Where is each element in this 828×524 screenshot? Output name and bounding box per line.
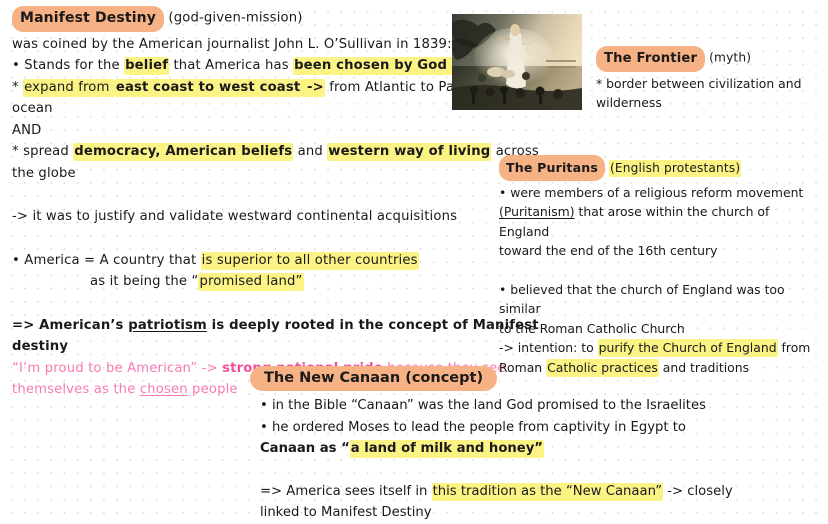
manifest-destiny-line-7: the globe xyxy=(12,163,462,185)
md-concl-pre: => American’s xyxy=(12,318,128,333)
md-l2-highlight-belief: belief xyxy=(124,57,169,75)
manifest-destiny-line-4: ocean xyxy=(12,98,462,120)
md-l6-highlight-democracy: democracy, American beliefs xyxy=(73,143,293,161)
puritans-heading-paren: (English protestants) xyxy=(609,160,741,177)
md-l10-pre: as it being the “ xyxy=(90,274,198,289)
md-l2-mid: that America has xyxy=(169,58,293,73)
md-l3-highlight-b: east coast to west coast xyxy=(115,79,301,97)
puritans-section: The Puritans (English protestants) • wer… xyxy=(499,155,819,377)
manifest-destiny-line-6: * spread democracy, American beliefs and… xyxy=(12,141,462,163)
frontier-heading-row: The Frontier (myth) xyxy=(596,46,828,72)
canaan-l4-highlight-tradition: this tradition as the “New Canaan” xyxy=(432,483,663,501)
md-l9-pre: • America = A country that xyxy=(12,253,201,268)
md-l3-star: * xyxy=(12,80,19,95)
md-l6-star: * xyxy=(12,144,19,159)
md-pink2-pre: themselves as the xyxy=(12,382,140,397)
manifest-destiny-line-3: * expand from east coast to west coast -… xyxy=(12,77,462,99)
puritans-line-6: -> intention: to purify the Church of En… xyxy=(499,338,819,358)
puritans-l6-tail: from xyxy=(778,340,811,355)
puritans-heading-row: The Puritans (English protestants) xyxy=(499,155,819,181)
md-l9-highlight-superior: is superior to all other countries xyxy=(201,252,419,270)
canaan-l4-pre: => America sees itself in xyxy=(260,484,432,499)
new-canaan-line-3: Canaan as “a land of milk and honey” xyxy=(250,438,810,460)
md-l10-highlight-promised-land: promised land” xyxy=(198,273,303,291)
md-pink2-tail: people xyxy=(188,382,238,397)
canaan-l4-tail: -> closely xyxy=(663,484,733,499)
notes-canvas: Manifest Destiny (god-given-mission) was… xyxy=(0,0,828,518)
md-concl-patriotism: patriotism xyxy=(128,318,207,333)
manifest-destiny-conclusion-line-1: => American’s patriotism is deeply roote… xyxy=(12,315,462,337)
new-canaan-section: The New Canaan (concept) • in the Bible … xyxy=(250,366,810,524)
md-l6-mid: and xyxy=(293,144,327,159)
manifest-destiny-heading-paren: (god-given-mission) xyxy=(168,11,302,26)
new-canaan-line-5: linked to Manifest Destiny xyxy=(250,502,810,524)
puritans-line-2: (Puritanism) that arose within the churc… xyxy=(499,202,819,241)
canaan-l3-pre: Canaan as “ xyxy=(260,441,350,456)
frontier-line-1: * border between civilization and xyxy=(596,74,828,94)
new-canaan-heading-row: The New Canaan (concept) xyxy=(250,366,810,391)
puritans-line-3: toward the end of the 16th century xyxy=(499,241,819,261)
puritans-l2-puritanism: (Puritanism) xyxy=(499,204,575,219)
md-l3-highlight-c: -> xyxy=(301,79,325,97)
manifest-destiny-heading-row: Manifest Destiny (god-given-mission) xyxy=(12,6,462,32)
manifest-destiny-line-9: • America = A country that is superior t… xyxy=(12,250,462,272)
new-canaan-line-1: • in the Bible “Canaan” was the land God… xyxy=(250,395,810,417)
puritans-heading: The Puritans xyxy=(499,155,605,181)
md-l6-pre: spread xyxy=(19,144,74,159)
new-canaan-line-2: • he ordered Moses to lead the people fr… xyxy=(250,417,810,439)
puritans-line-4: • believed that the church of England wa… xyxy=(499,280,819,319)
manifest-destiny-line-2: • Stands for the belief that America has… xyxy=(12,55,462,77)
puritans-l6-highlight-purify: purify the Church of England xyxy=(598,339,778,357)
painting-artwork-icon xyxy=(452,14,582,110)
md-pink2-chosen: chosen xyxy=(140,382,188,397)
frontier-heading-paren: (myth) xyxy=(709,51,751,65)
md-pink-pre: “I’m proud to be American” -> xyxy=(12,361,222,376)
puritans-l6-pre: -> intention: to xyxy=(499,340,598,355)
md-concl-tail: is deeply rooted in the concept of Manif… xyxy=(207,318,539,333)
md-l6-highlight-western: western way of living xyxy=(327,143,491,161)
puritans-line-1: • were members of a religious reform mov… xyxy=(499,183,819,203)
frontier-line-2: wilderness xyxy=(596,93,828,113)
manifest-destiny-conclusion-line-2: destiny xyxy=(12,336,462,358)
frontier-section: The Frontier (myth) * border between civ… xyxy=(596,46,828,113)
new-canaan-line-4: => America sees itself in this tradition… xyxy=(250,481,810,503)
manifest-destiny-section: Manifest Destiny (god-given-mission) was… xyxy=(12,6,462,401)
manifest-destiny-heading: Manifest Destiny xyxy=(12,6,164,32)
frontier-heading: The Frontier xyxy=(596,46,705,72)
new-canaan-heading: The New Canaan (concept) xyxy=(250,366,497,391)
puritans-line-5: to the Roman Catholic Church xyxy=(499,319,819,339)
manifest-destiny-line-10: as it being the “promised land” xyxy=(12,271,462,293)
md-l2-highlight-chosen: been chosen by God to: xyxy=(293,57,474,75)
american-progress-painting xyxy=(452,14,582,110)
md-l3-highlight-a: expand from xyxy=(23,79,115,97)
manifest-destiny-line-1: was coined by the American journalist Jo… xyxy=(12,34,462,56)
manifest-destiny-line-8: -> it was to justify and validate westwa… xyxy=(12,206,462,228)
canaan-l3-highlight-milk-honey: a land of milk and honey” xyxy=(350,440,544,458)
manifest-destiny-line-5: AND xyxy=(12,120,462,142)
md-l2-pre: • Stands for the xyxy=(12,58,124,73)
